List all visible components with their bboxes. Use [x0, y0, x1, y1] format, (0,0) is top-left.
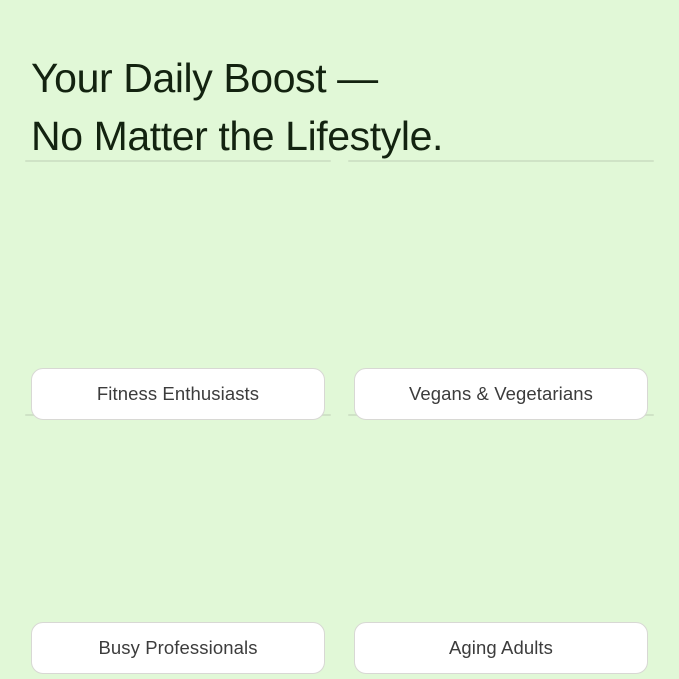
- card-label-text: Aging Adults: [449, 637, 553, 659]
- audience-card-busy-professionals[interactable]: Busy Professionals: [25, 414, 331, 648]
- card-frame: [348, 160, 654, 162]
- card-label-text: Busy Professionals: [98, 637, 257, 659]
- card-label-pill[interactable]: Busy Professionals: [31, 622, 325, 674]
- page-title: Your Daily Boost — No Matter the Lifesty…: [31, 49, 651, 165]
- card-frame: [25, 160, 331, 162]
- audience-card-vegans-vegetarians[interactable]: Vegans & Vegetarians: [348, 160, 654, 394]
- card-label-pill[interactable]: Vegans & Vegetarians: [354, 368, 648, 420]
- card-label-pill[interactable]: Fitness Enthusiasts: [31, 368, 325, 420]
- audience-card-aging-adults[interactable]: Aging Adults: [348, 414, 654, 648]
- card-label-text: Fitness Enthusiasts: [97, 383, 259, 405]
- promo-panel: Your Daily Boost — No Matter the Lifesty…: [0, 0, 679, 679]
- card-label-pill[interactable]: Aging Adults: [354, 622, 648, 674]
- card-label-text: Vegans & Vegetarians: [409, 383, 593, 405]
- audience-card-fitness-enthusiasts[interactable]: Fitness Enthusiasts: [25, 160, 331, 394]
- audience-card-grid: Fitness Enthusiasts: [25, 160, 654, 648]
